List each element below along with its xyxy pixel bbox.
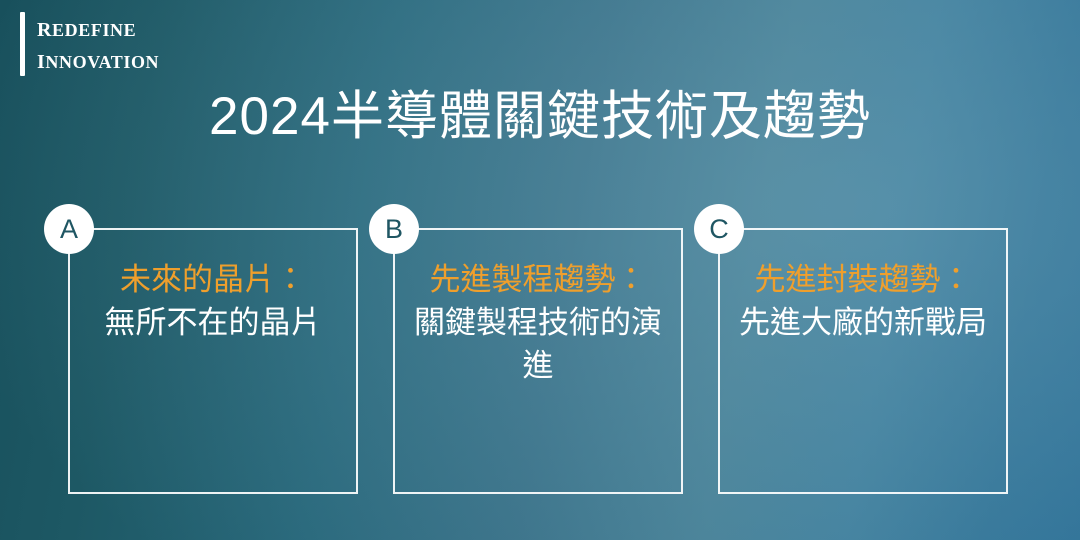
card-row: A 未來的晶片： 無所不在的晶片 B 先進製程趨勢： 關鍵製程技術的演進 C 先… [68, 228, 1008, 496]
page-title: 2024半導體關鍵技術及趨勢 [0, 88, 1080, 146]
card-heading-a: 未來的晶片： [80, 258, 346, 301]
card-heading-b: 先進製程趨勢： [405, 258, 671, 301]
brand-logo: Redefine Innovation [20, 12, 159, 76]
logo-wordmark: Redefine Innovation [37, 12, 159, 76]
card-subtitle-b: 關鍵製程技術的演進 [405, 301, 671, 387]
card-body-b: 先進製程趨勢： 關鍵製程技術的演進 [405, 258, 671, 387]
presentation-slide: Redefine Innovation 2024半導體關鍵技術及趨勢 A 未來的… [0, 0, 1080, 540]
logo-line-2: Innovation [37, 44, 159, 76]
card-subtitle-a: 無所不在的晶片 [80, 301, 346, 344]
card-badge-c: C [694, 204, 744, 254]
topic-card-a[interactable]: A 未來的晶片： 無所不在的晶片 [68, 228, 358, 494]
topic-card-c[interactable]: C 先進封裝趨勢： 先進大廠的新戰局 [718, 228, 1008, 494]
card-badge-b: B [369, 204, 419, 254]
logo-line-1: Redefine [37, 12, 159, 44]
card-heading-c: 先進封裝趨勢： [730, 258, 996, 301]
logo-accent-bar [20, 12, 25, 76]
card-subtitle-c: 先進大廠的新戰局 [730, 301, 996, 344]
topic-card-b[interactable]: B 先進製程趨勢： 關鍵製程技術的演進 [393, 228, 683, 494]
card-badge-a: A [44, 204, 94, 254]
card-body-a: 未來的晶片： 無所不在的晶片 [80, 258, 346, 344]
card-body-c: 先進封裝趨勢： 先進大廠的新戰局 [730, 258, 996, 344]
